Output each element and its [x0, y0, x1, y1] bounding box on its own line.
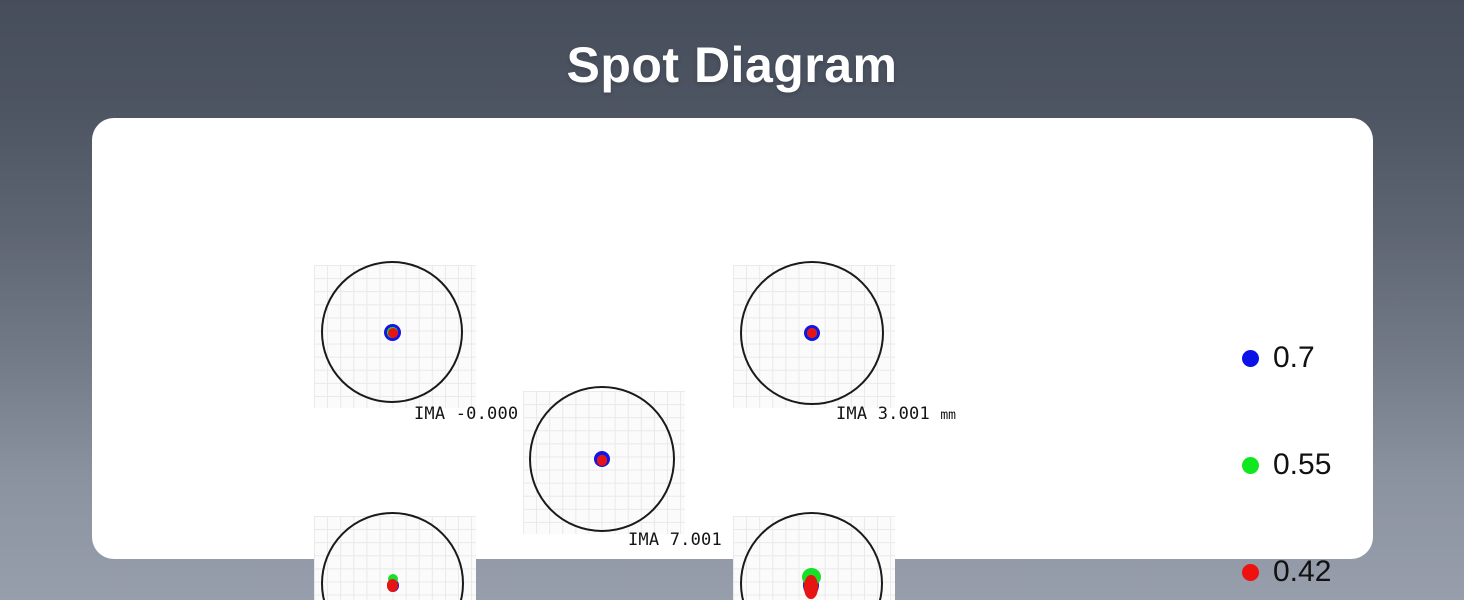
- spot-label-1-text: IMA 3.001: [836, 404, 930, 424]
- legend: 0.7 0.55 0.42: [1242, 340, 1432, 590]
- legend-label-0: 0.7: [1273, 343, 1315, 373]
- spot-panel-4: IMA 22.009 mm: [733, 516, 895, 600]
- spot-panel-1: IMA 3.001 mm: [733, 265, 895, 408]
- spot-label-0-text: IMA -0.000: [414, 404, 518, 424]
- legend-label-1: 0.55: [1273, 450, 1331, 480]
- legend-item-2[interactable]: 0.42: [1242, 554, 1432, 590]
- spot-label-2: IMA 7.001 mm: [628, 530, 748, 550]
- spot-dot-2-red: [597, 455, 608, 466]
- legend-swatch-green-icon: [1242, 457, 1259, 474]
- spot-label-1: IMA 3.001 mm: [836, 404, 956, 424]
- spot-diagram-page: Spot Diagram 100.00 IMA -0.000 mm IMA: [0, 0, 1464, 600]
- legend-item-0[interactable]: 0.7: [1242, 340, 1432, 376]
- spot-panel-0: IMA -0.000 mm: [314, 265, 476, 408]
- spot-label-1-unit: mm: [940, 408, 956, 423]
- spot-dot-3-red: [387, 579, 398, 591]
- spot-dot-4-red: [804, 575, 818, 599]
- spot-label-2-text: IMA 7.001: [628, 530, 722, 550]
- spot-dot-0-red: [388, 328, 398, 338]
- page-title: Spot Diagram: [0, 36, 1464, 94]
- spot-panel-2: IMA 7.001 mm: [523, 391, 685, 534]
- legend-item-1[interactable]: 0.55: [1242, 447, 1432, 483]
- spot-dot-1-red: [807, 328, 817, 338]
- legend-label-2: 0.42: [1273, 557, 1331, 587]
- spot-panel-3: IMA 14.004 mm: [314, 516, 476, 600]
- legend-swatch-red-icon: [1242, 564, 1259, 581]
- legend-swatch-blue-icon: [1242, 350, 1259, 367]
- diagram-card: 100.00 IMA -0.000 mm IMA 3.001 mm: [92, 118, 1373, 559]
